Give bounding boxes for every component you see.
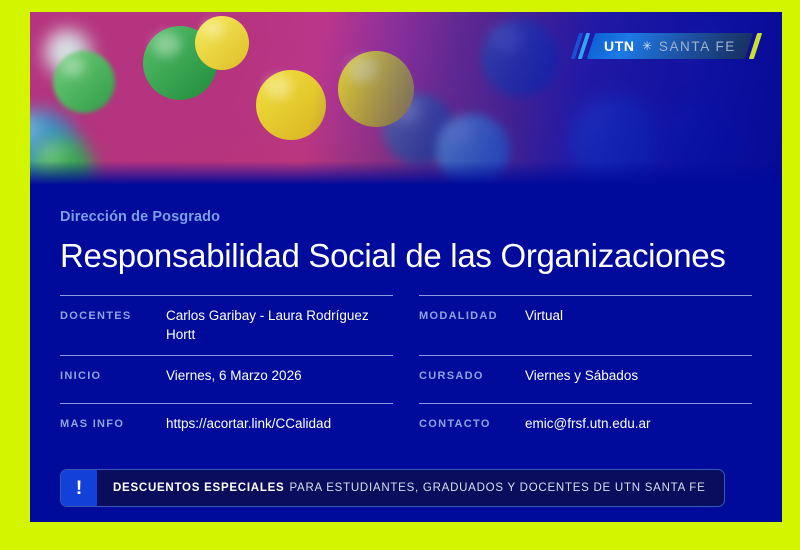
info-column-left: DOCENTES Carlos Garibay - Laura Rodrígue… [60,295,393,451]
info-value: Viernes y Sábados [525,367,752,386]
table-row: INICIO Viernes, 6 Marzo 2026 [60,355,393,403]
discount-banner: ! DESCUENTOS ESPECIALES PARA ESTUDIANTES… [60,469,725,507]
poster-frame: UTN ✳ SANTA FE Dirección de Posgrado Res… [0,0,800,550]
info-value-email[interactable]: emic@frsf.utn.edu.ar [525,415,752,434]
table-row: CURSADO Viernes y Sábados [419,355,752,403]
info-value: Viernes, 6 Marzo 2026 [166,367,393,386]
info-label: INICIO [60,367,166,382]
banner-area: ! DESCUENTOS ESPECIALES PARA ESTUDIANTES… [30,451,782,507]
hero-image: UTN ✳ SANTA FE [30,12,782,187]
logo-utn-text: UTN [604,38,635,54]
sun-star-icon: ✳ [642,40,652,52]
logo-pill: UTN ✳ SANTA FE [587,33,753,59]
banner-strong-text: DESCUENTOS ESPECIALES [113,482,284,494]
info-label: CURSADO [419,367,525,382]
table-row: CONTACTO emic@frsf.utn.edu.ar [419,403,752,451]
hero-bottom-fade [30,161,782,187]
info-value-link[interactable]: https://acortar.link/CCalidad [166,415,393,434]
info-label: MAS INFO [60,415,166,430]
table-row: MODALIDAD Virtual [419,295,752,355]
info-value: Virtual [525,307,752,326]
banner-rest-text: PARA ESTUDIANTES, GRADUADOS Y DOCENTES D… [289,482,705,494]
course-info-grid: DOCENTES Carlos Garibay - Laura Rodrígue… [60,295,752,451]
table-row: MAS INFO https://acortar.link/CCalidad [60,403,393,451]
poster-body: UTN ✳ SANTA FE Dirección de Posgrado Res… [30,12,782,522]
info-column-right: MODALIDAD Virtual CURSADO Viernes y Sába… [419,295,752,451]
utn-santa-fe-logo: UTN ✳ SANTA FE [575,32,758,60]
logo-campus-text: SANTA FE [659,39,736,54]
table-row: DOCENTES Carlos Garibay - Laura Rodrígue… [60,295,393,355]
banner-message: DESCUENTOS ESPECIALES PARA ESTUDIANTES, … [97,470,724,506]
page-title: Responsabilidad Social de las Organizaci… [60,237,752,275]
info-value: Carlos Garibay - Laura Rodríguez Hortt [166,307,393,344]
info-label: MODALIDAD [419,307,525,322]
info-label: CONTACTO [419,415,525,430]
exclamation-icon: ! [61,470,97,506]
info-label: DOCENTES [60,307,166,322]
department-eyebrow: Dirección de Posgrado [60,209,752,225]
content-panel: Dirección de Posgrado Responsabilidad So… [30,187,782,451]
